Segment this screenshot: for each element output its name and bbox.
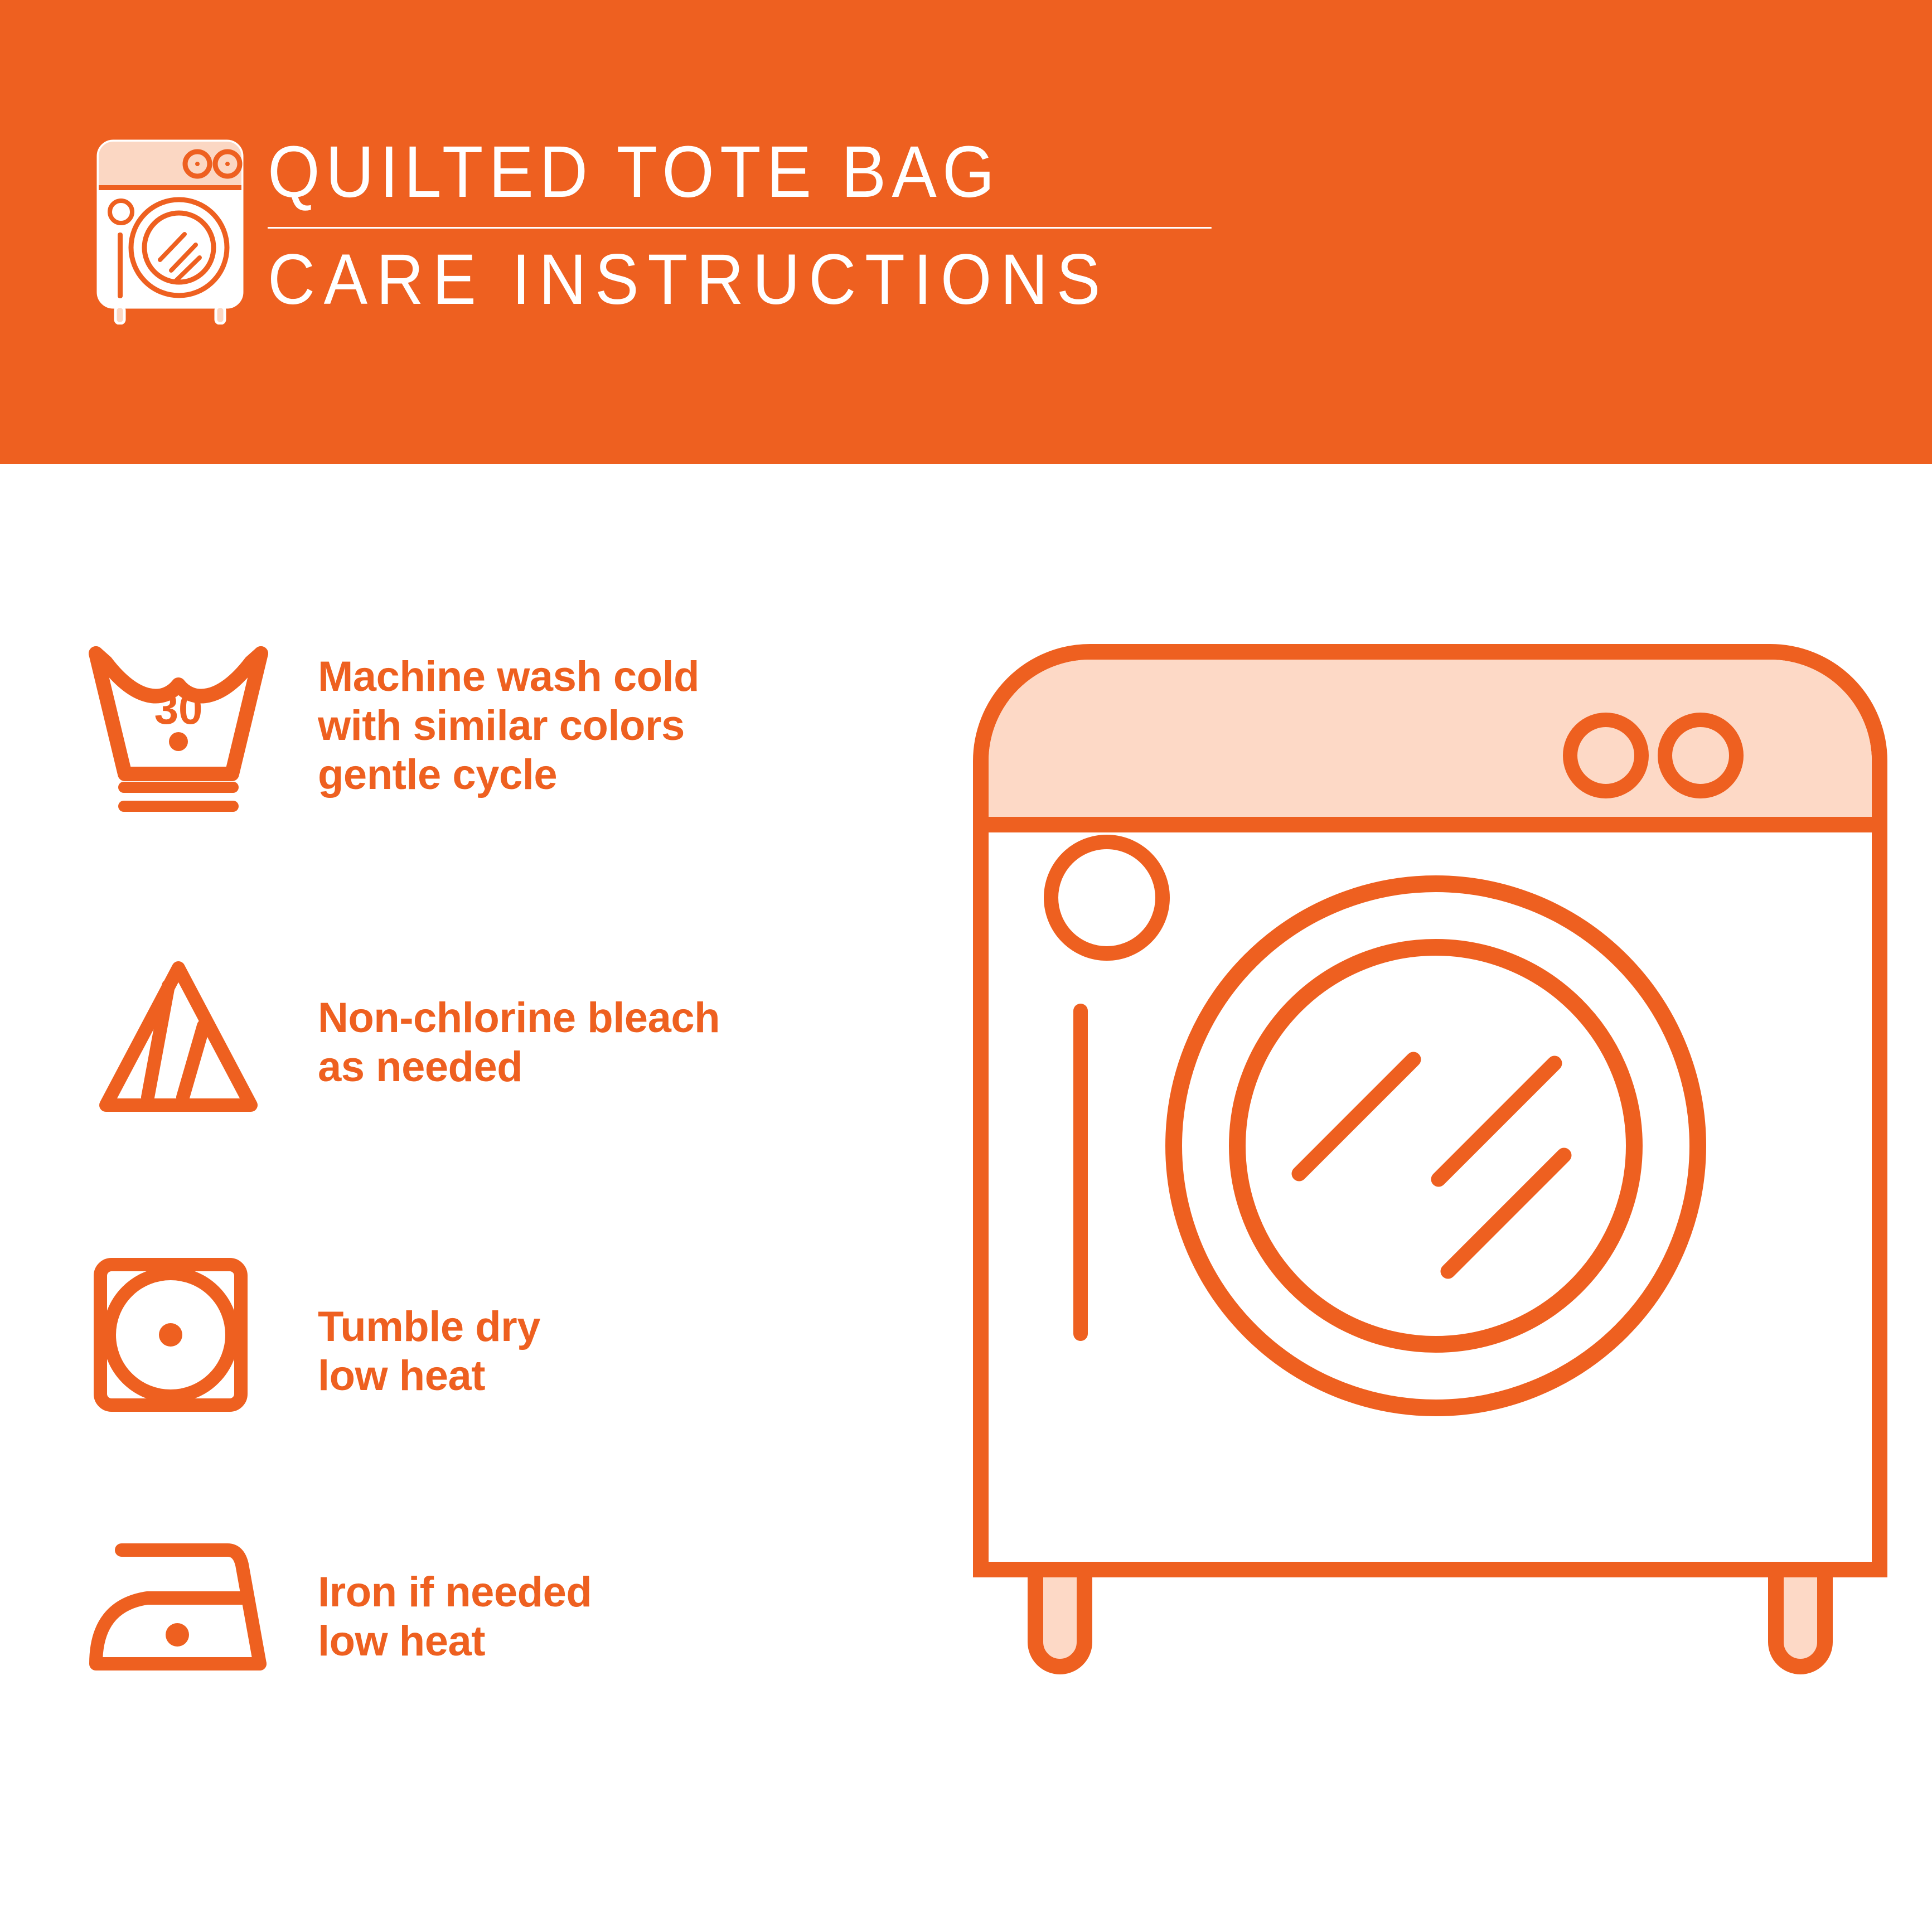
care-label-bleach: Non-chlorine bleach as needed bbox=[318, 953, 720, 1092]
care-row-bleach: Non-chlorine bleach as needed bbox=[84, 953, 920, 1132]
care-instructions-card: QUILTED TOTE BAG CARE INSTRUCTIONS 30 Ma… bbox=[0, 0, 1932, 1932]
door-handle bbox=[1073, 1004, 1088, 1341]
care-label-wash: Machine wash cold with similar colors ge… bbox=[318, 641, 699, 800]
care-row-tumble-dry: Tumble dry low heat bbox=[84, 1249, 920, 1427]
care-label-iron: Iron if needed low heat bbox=[318, 1528, 592, 1666]
header-banner: QUILTED TOTE BAG CARE INSTRUCTIONS bbox=[0, 0, 1932, 464]
header-text-block: QUILTED TOTE BAG CARE INSTRUCTIONS bbox=[268, 129, 1294, 316]
page-title: QUILTED TOTE BAG bbox=[268, 135, 1212, 208]
header-content: QUILTED TOTE BAG CARE INSTRUCTIONS bbox=[86, 129, 1294, 325]
wash-temperature-label: 30 bbox=[154, 684, 203, 733]
care-row-iron: Iron if needed low heat bbox=[84, 1528, 920, 1706]
wash-tub-30-gentle-icon: 30 bbox=[84, 641, 318, 820]
iron-low-heat-icon bbox=[84, 1528, 318, 1706]
bleach-triangle-non-chlorine-icon bbox=[84, 953, 318, 1132]
page-subtitle: CARE INSTRUCTIONS bbox=[268, 244, 1212, 316]
washing-machine-icon bbox=[86, 129, 254, 325]
washing-machine-illustration bbox=[973, 644, 1887, 1754]
tumble-dry-low-heat-icon bbox=[84, 1249, 318, 1427]
title-divider bbox=[268, 227, 1212, 229]
leg-right bbox=[1776, 1570, 1825, 1667]
care-label-tumble-dry: Tumble dry low heat bbox=[318, 1249, 540, 1401]
panel-divider bbox=[981, 817, 1880, 832]
leg-left bbox=[1035, 1570, 1084, 1667]
care-row-wash: 30 Machine wash cold with similar colors… bbox=[84, 641, 920, 820]
